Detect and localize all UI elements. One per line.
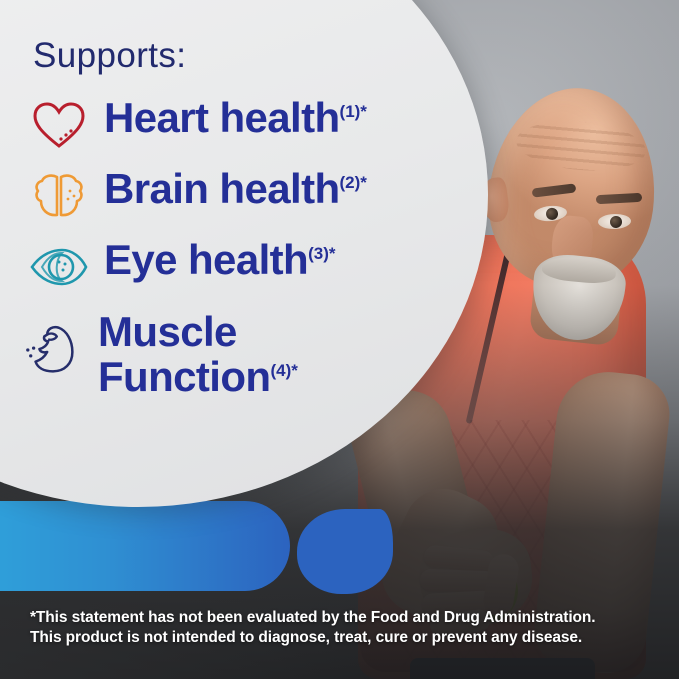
heart-icon bbox=[28, 96, 90, 154]
benefit-label: Eye health(3)* bbox=[104, 238, 336, 283]
page-title: Supports: bbox=[33, 36, 186, 76]
decor-blue-pill bbox=[0, 501, 290, 591]
benefit-label: Heart health(1)* bbox=[104, 96, 367, 141]
benefit-marker: (4)* bbox=[271, 361, 298, 380]
benefit-marker: (1)* bbox=[340, 102, 367, 121]
benefit-item-brain: Brain health(2)* bbox=[28, 167, 367, 225]
disclaimer-text: *This statement has not been evaluated b… bbox=[30, 608, 650, 649]
muscle-flex-icon bbox=[22, 310, 84, 394]
benefit-label: Brain health(2)* bbox=[104, 167, 367, 212]
benefit-item-heart: Heart health(1)* bbox=[28, 96, 367, 154]
benefit-label: Muscle Function(4)* bbox=[98, 310, 298, 400]
product-benefit-graphic: Supports: Heart health(1)* bbox=[0, 0, 679, 679]
benefit-marker: (2)* bbox=[340, 173, 367, 192]
decor-blue-blob bbox=[297, 509, 393, 594]
benefit-item-muscle: Muscle Function(4)* bbox=[22, 310, 298, 400]
eye-icon bbox=[28, 238, 90, 296]
benefit-marker: (3)* bbox=[308, 244, 335, 263]
brain-icon bbox=[28, 167, 90, 225]
benefit-item-eye: Eye health(3)* bbox=[28, 238, 336, 296]
